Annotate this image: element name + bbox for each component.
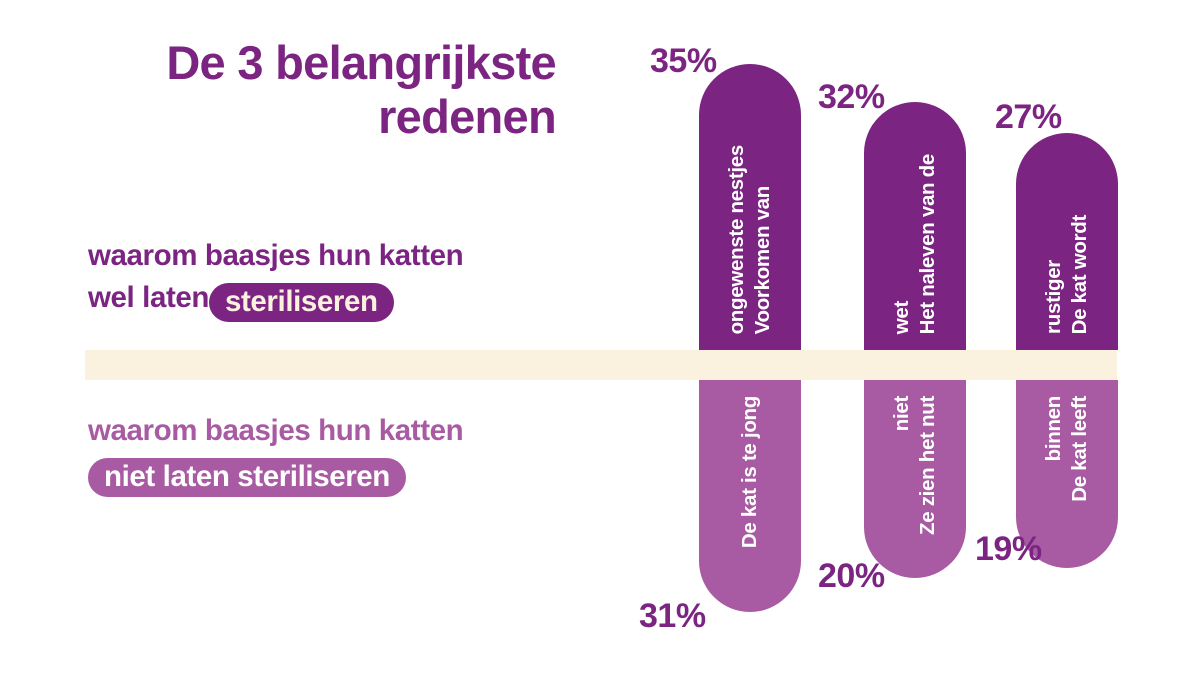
bar-group-top-3: De kat wordt rustiger [1016, 133, 1118, 350]
subtitle-top-line-1: waarom baasjes hun katten [88, 235, 608, 277]
subtitle-top-line-2: wel latensteriliseren [88, 277, 608, 322]
infographic-canvas: De 3 belangrijkste redenen waarom baasje… [0, 0, 1200, 675]
bar-label-bottom-2: Ze zien het nut niet [864, 380, 966, 578]
bar-label-bottom-3-line-2: binnen [1042, 396, 1066, 461]
bar-label-top-3: De kat wordt rustiger [1016, 133, 1118, 350]
value-label-top-3: 27% [995, 98, 1062, 137]
value-label-top-2: 32% [818, 78, 885, 117]
bar-label-top-2-line-1: Het naleven van de [916, 154, 940, 334]
headline-line-2: redenen [86, 90, 556, 144]
pill-niet-laten-steriliseren: niet laten steriliseren [88, 458, 406, 497]
value-label-top-1: 35% [650, 42, 717, 81]
bar-bottom-1: De kat is te jong [699, 380, 801, 612]
subtitle-top-prefix: wel laten [88, 281, 209, 314]
bar-label-bottom-2-line-2: niet [890, 396, 914, 431]
bar-top-1: Voorkomen van ongewenste nestjes [699, 64, 801, 350]
page-title: De 3 belangrijkste redenen [86, 36, 556, 143]
value-label-bottom-2: 20% [818, 557, 885, 596]
bar-label-bottom-2-line-1: Ze zien het nut [916, 396, 940, 535]
bar-top-2: Het naleven van de wet [864, 102, 966, 350]
bar-label-top-1: Voorkomen van ongewenste nestjes [699, 64, 801, 350]
bar-label-top-1-line-2: ongewenste nestjes [725, 145, 749, 334]
bar-label-top-1-line-1: Voorkomen van [751, 186, 775, 334]
bar-group-top-1: Voorkomen van ongewenste nestjes [699, 64, 801, 350]
subtitle-top: waarom baasjes hun katten wel latensteri… [88, 235, 608, 322]
value-label-bottom-3: 19% [975, 530, 1042, 569]
subtitle-bottom-line-1: waarom baasjes hun katten [88, 410, 608, 452]
bar-label-bottom-1: De kat is te jong [699, 380, 801, 612]
pill-steriliseren: steriliseren [209, 283, 394, 322]
value-label-bottom-1: 31% [639, 597, 706, 636]
bar-group-bottom-1: De kat is te jong [699, 380, 801, 612]
headline-line-1: De 3 belangrijkste [86, 36, 556, 90]
bar-label-top-2: Het naleven van de wet [864, 102, 966, 350]
subtitle-bottom: waarom baasjes hun katten niet laten ste… [88, 410, 608, 497]
bar-label-bottom-3-line-1: De kat leeft [1068, 396, 1092, 502]
bar-group-top-2: Het naleven van de wet [864, 102, 966, 350]
bar-group-bottom-2: Ze zien het nut niet [864, 380, 966, 578]
bar-label-top-3-line-1: De kat wordt [1068, 215, 1092, 334]
subtitle-bottom-line-2: niet laten steriliseren [88, 452, 608, 497]
bar-bottom-2: Ze zien het nut niet [864, 380, 966, 578]
bar-label-bottom-1-line-1: De kat is te jong [738, 396, 762, 548]
bar-top-3: De kat wordt rustiger [1016, 133, 1118, 350]
bar-label-top-2-line-2: wet [890, 301, 914, 334]
bar-label-top-3-line-2: rustiger [1042, 260, 1066, 334]
